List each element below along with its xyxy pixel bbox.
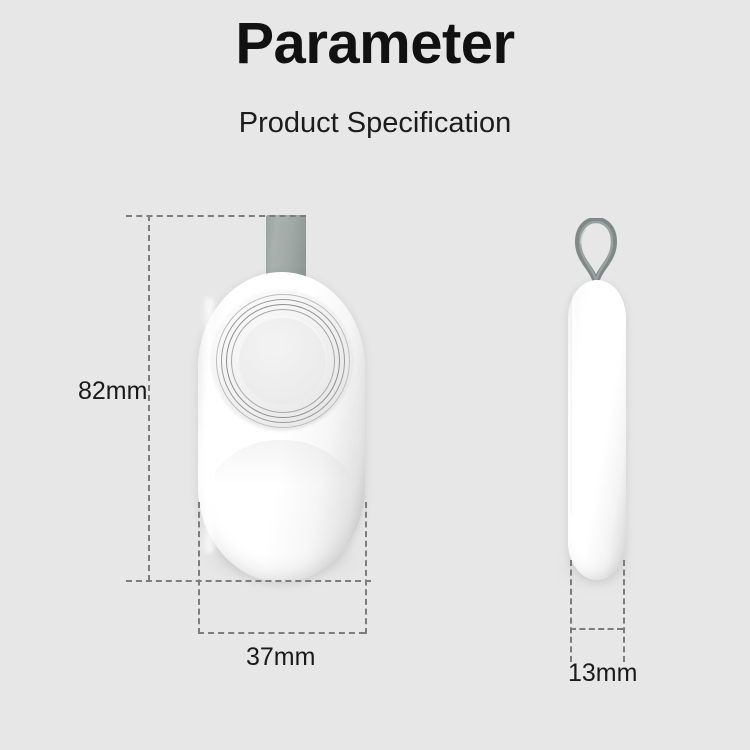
front-body-left-highlight	[201, 298, 217, 553]
side-body	[568, 280, 626, 580]
page-title: Parameter	[0, 14, 750, 75]
thickness-dimension-line	[570, 628, 623, 630]
height-dimension-bottom-extension	[126, 580, 371, 582]
width-dimension-right-extension	[365, 502, 367, 634]
width-dimension-left-extension	[198, 502, 200, 634]
page-subtitle: Product Specification	[0, 106, 750, 141]
height-dimension-line	[148, 215, 150, 581]
width-dimension-line	[198, 632, 365, 634]
side-body-seam	[572, 292, 575, 514]
lanyard-loop-icon	[572, 218, 620, 286]
product-specification-diagram: Parameter Product Specification 82mm	[0, 0, 750, 750]
strap-tab	[266, 215, 306, 277]
thickness-dimension-right-extension	[623, 560, 625, 662]
product-side-view	[568, 280, 626, 580]
height-dimension-top-extension	[126, 215, 306, 217]
width-dimension-label: 37mm	[246, 643, 315, 672]
product-front-view	[198, 272, 365, 582]
coil-center-disc	[238, 316, 327, 405]
thickness-dimension-left-extension	[570, 560, 572, 662]
thickness-dimension-label: 13mm	[568, 659, 637, 688]
front-body-crease	[204, 440, 359, 574]
height-dimension-label: 82mm	[78, 377, 147, 406]
side-body-gloss	[593, 300, 606, 318]
